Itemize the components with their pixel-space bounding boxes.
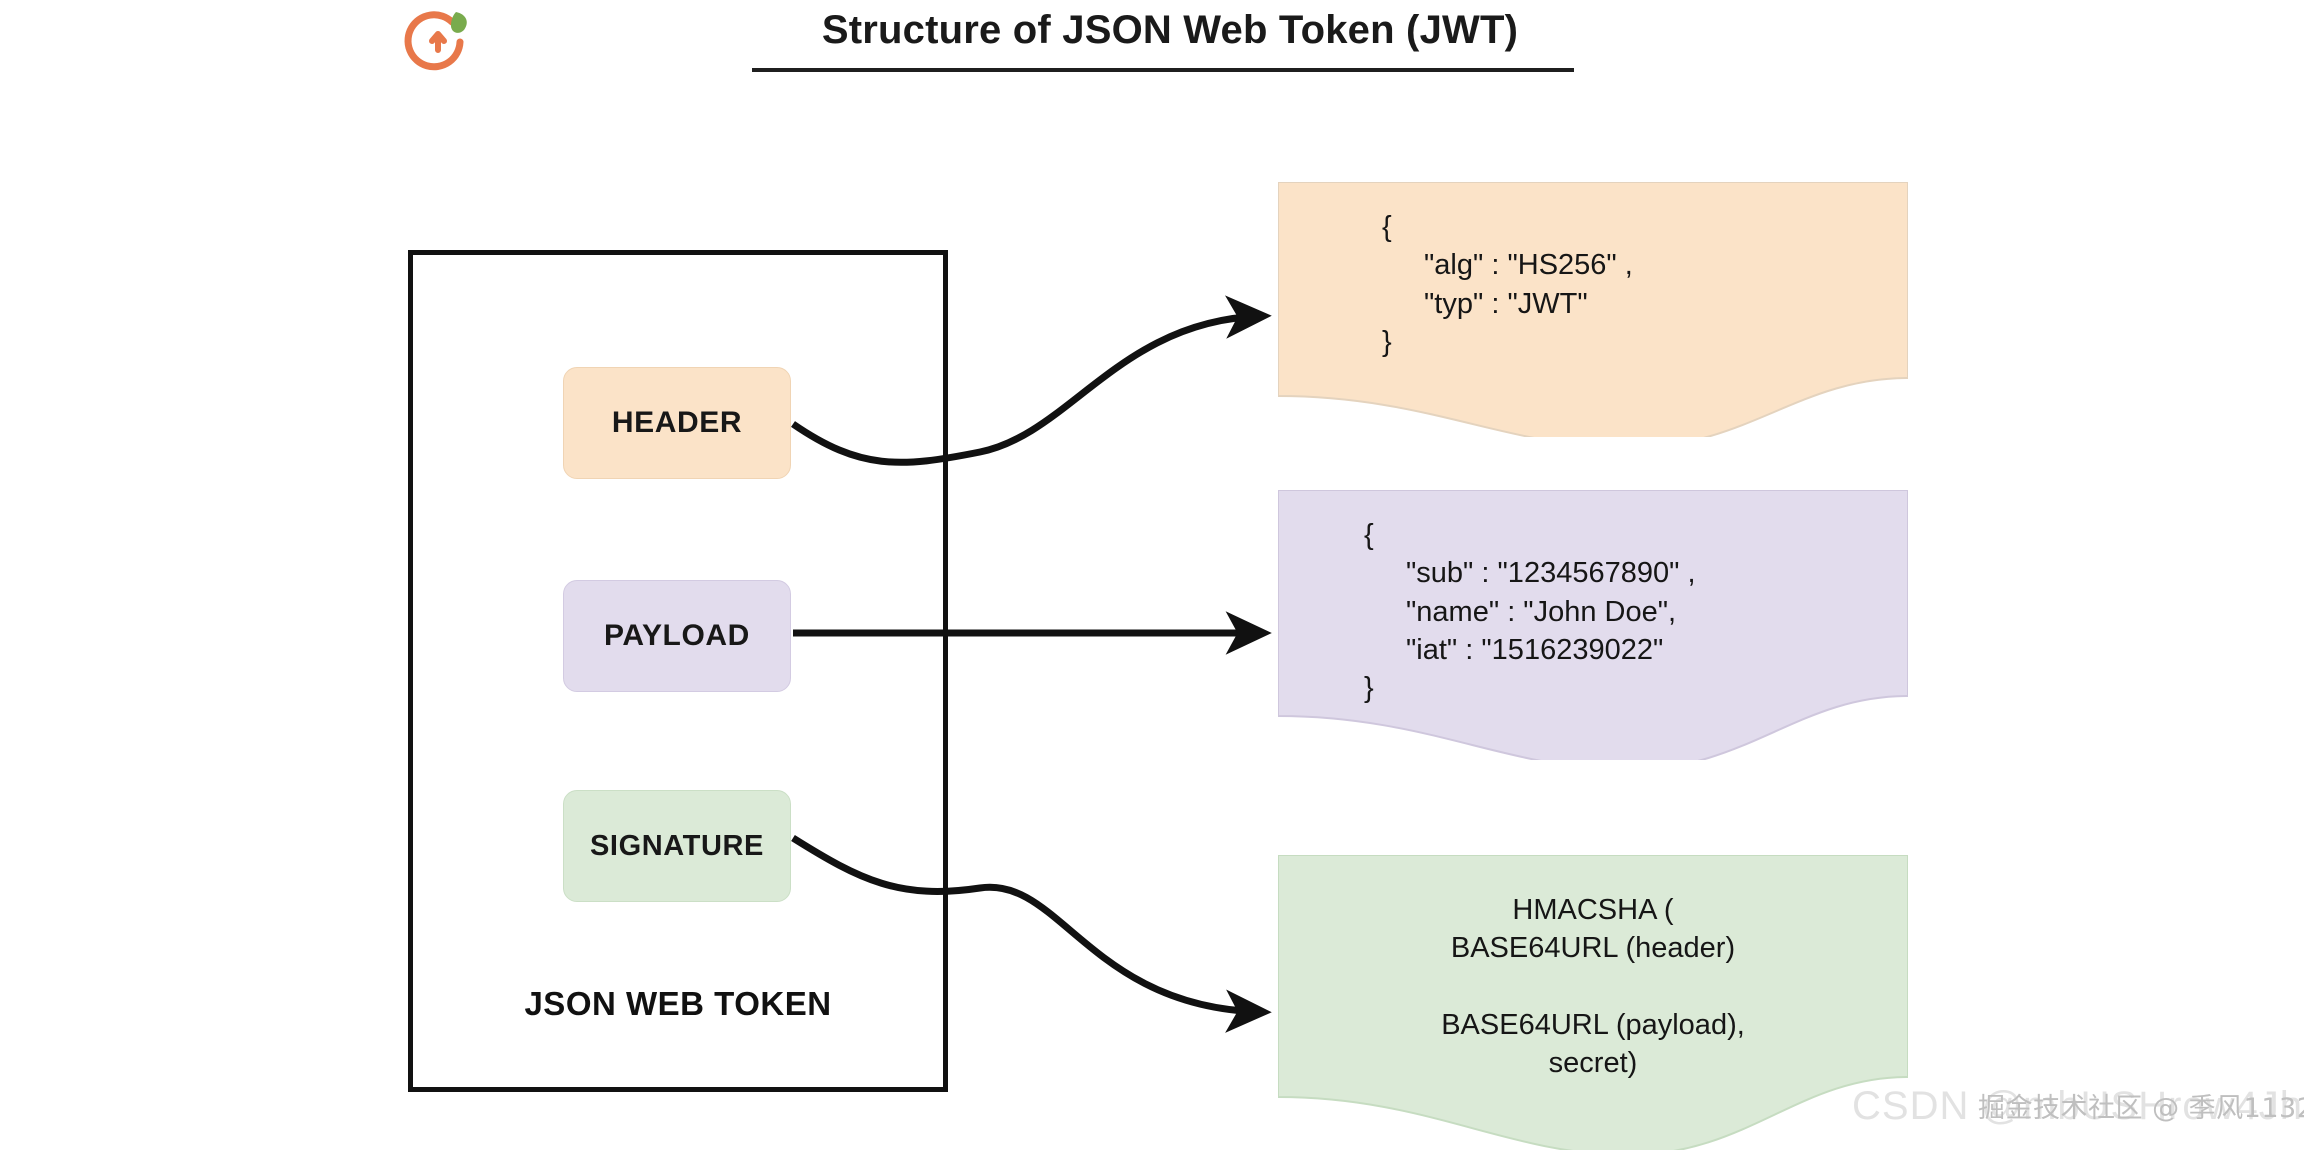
connector-layer bbox=[0, 0, 2304, 1152]
json-line: } bbox=[1364, 669, 1908, 707]
json-line: "iat" : "1516239022" bbox=[1364, 631, 1908, 669]
json-line: "sub" : "1234567890" , bbox=[1364, 554, 1908, 592]
part-chip-payload[interactable]: PAYLOAD bbox=[563, 580, 791, 692]
watermark-juejin: 掘金技术社区 @ 季风1132 bbox=[1978, 1086, 2304, 1125]
page-title: Structure of JSON Web Token (JWT) bbox=[740, 8, 1600, 53]
formula-line: HMACSHA ( bbox=[1278, 891, 1908, 929]
formula-line: BASE64URL (header) bbox=[1278, 929, 1908, 967]
json-line: { bbox=[1364, 516, 1908, 554]
formula-line: BASE64URL (payload), bbox=[1278, 1006, 1908, 1044]
payload-json-card: { "sub" : "1234567890" , "name" : "John … bbox=[1278, 490, 1908, 760]
json-line: { bbox=[1382, 208, 1908, 246]
json-line: "alg" : "HS256" , bbox=[1382, 246, 1908, 284]
jwt-container-label: JSON WEB TOKEN bbox=[408, 985, 948, 1023]
json-line: "name" : "John Doe", bbox=[1364, 593, 1908, 631]
signature-formula-card: HMACSHA ( BASE64URL (header) BASE64URL (… bbox=[1278, 855, 1908, 1150]
header-json-card: { "alg" : "HS256" , "typ" : "JWT" } bbox=[1278, 182, 1908, 437]
diagram-canvas: Structure of JSON Web Token (JWT) JSON W… bbox=[0, 0, 2304, 1152]
json-line: "typ" : "JWT" bbox=[1382, 285, 1908, 323]
formula-line: secret) bbox=[1278, 1044, 1908, 1082]
part-chip-header[interactable]: HEADER bbox=[563, 367, 791, 479]
part-chip-signature[interactable]: SIGNATURE bbox=[563, 790, 791, 902]
title-underline bbox=[752, 68, 1574, 72]
leaf-clock-logo-icon bbox=[390, 6, 486, 78]
json-line: } bbox=[1382, 323, 1908, 361]
